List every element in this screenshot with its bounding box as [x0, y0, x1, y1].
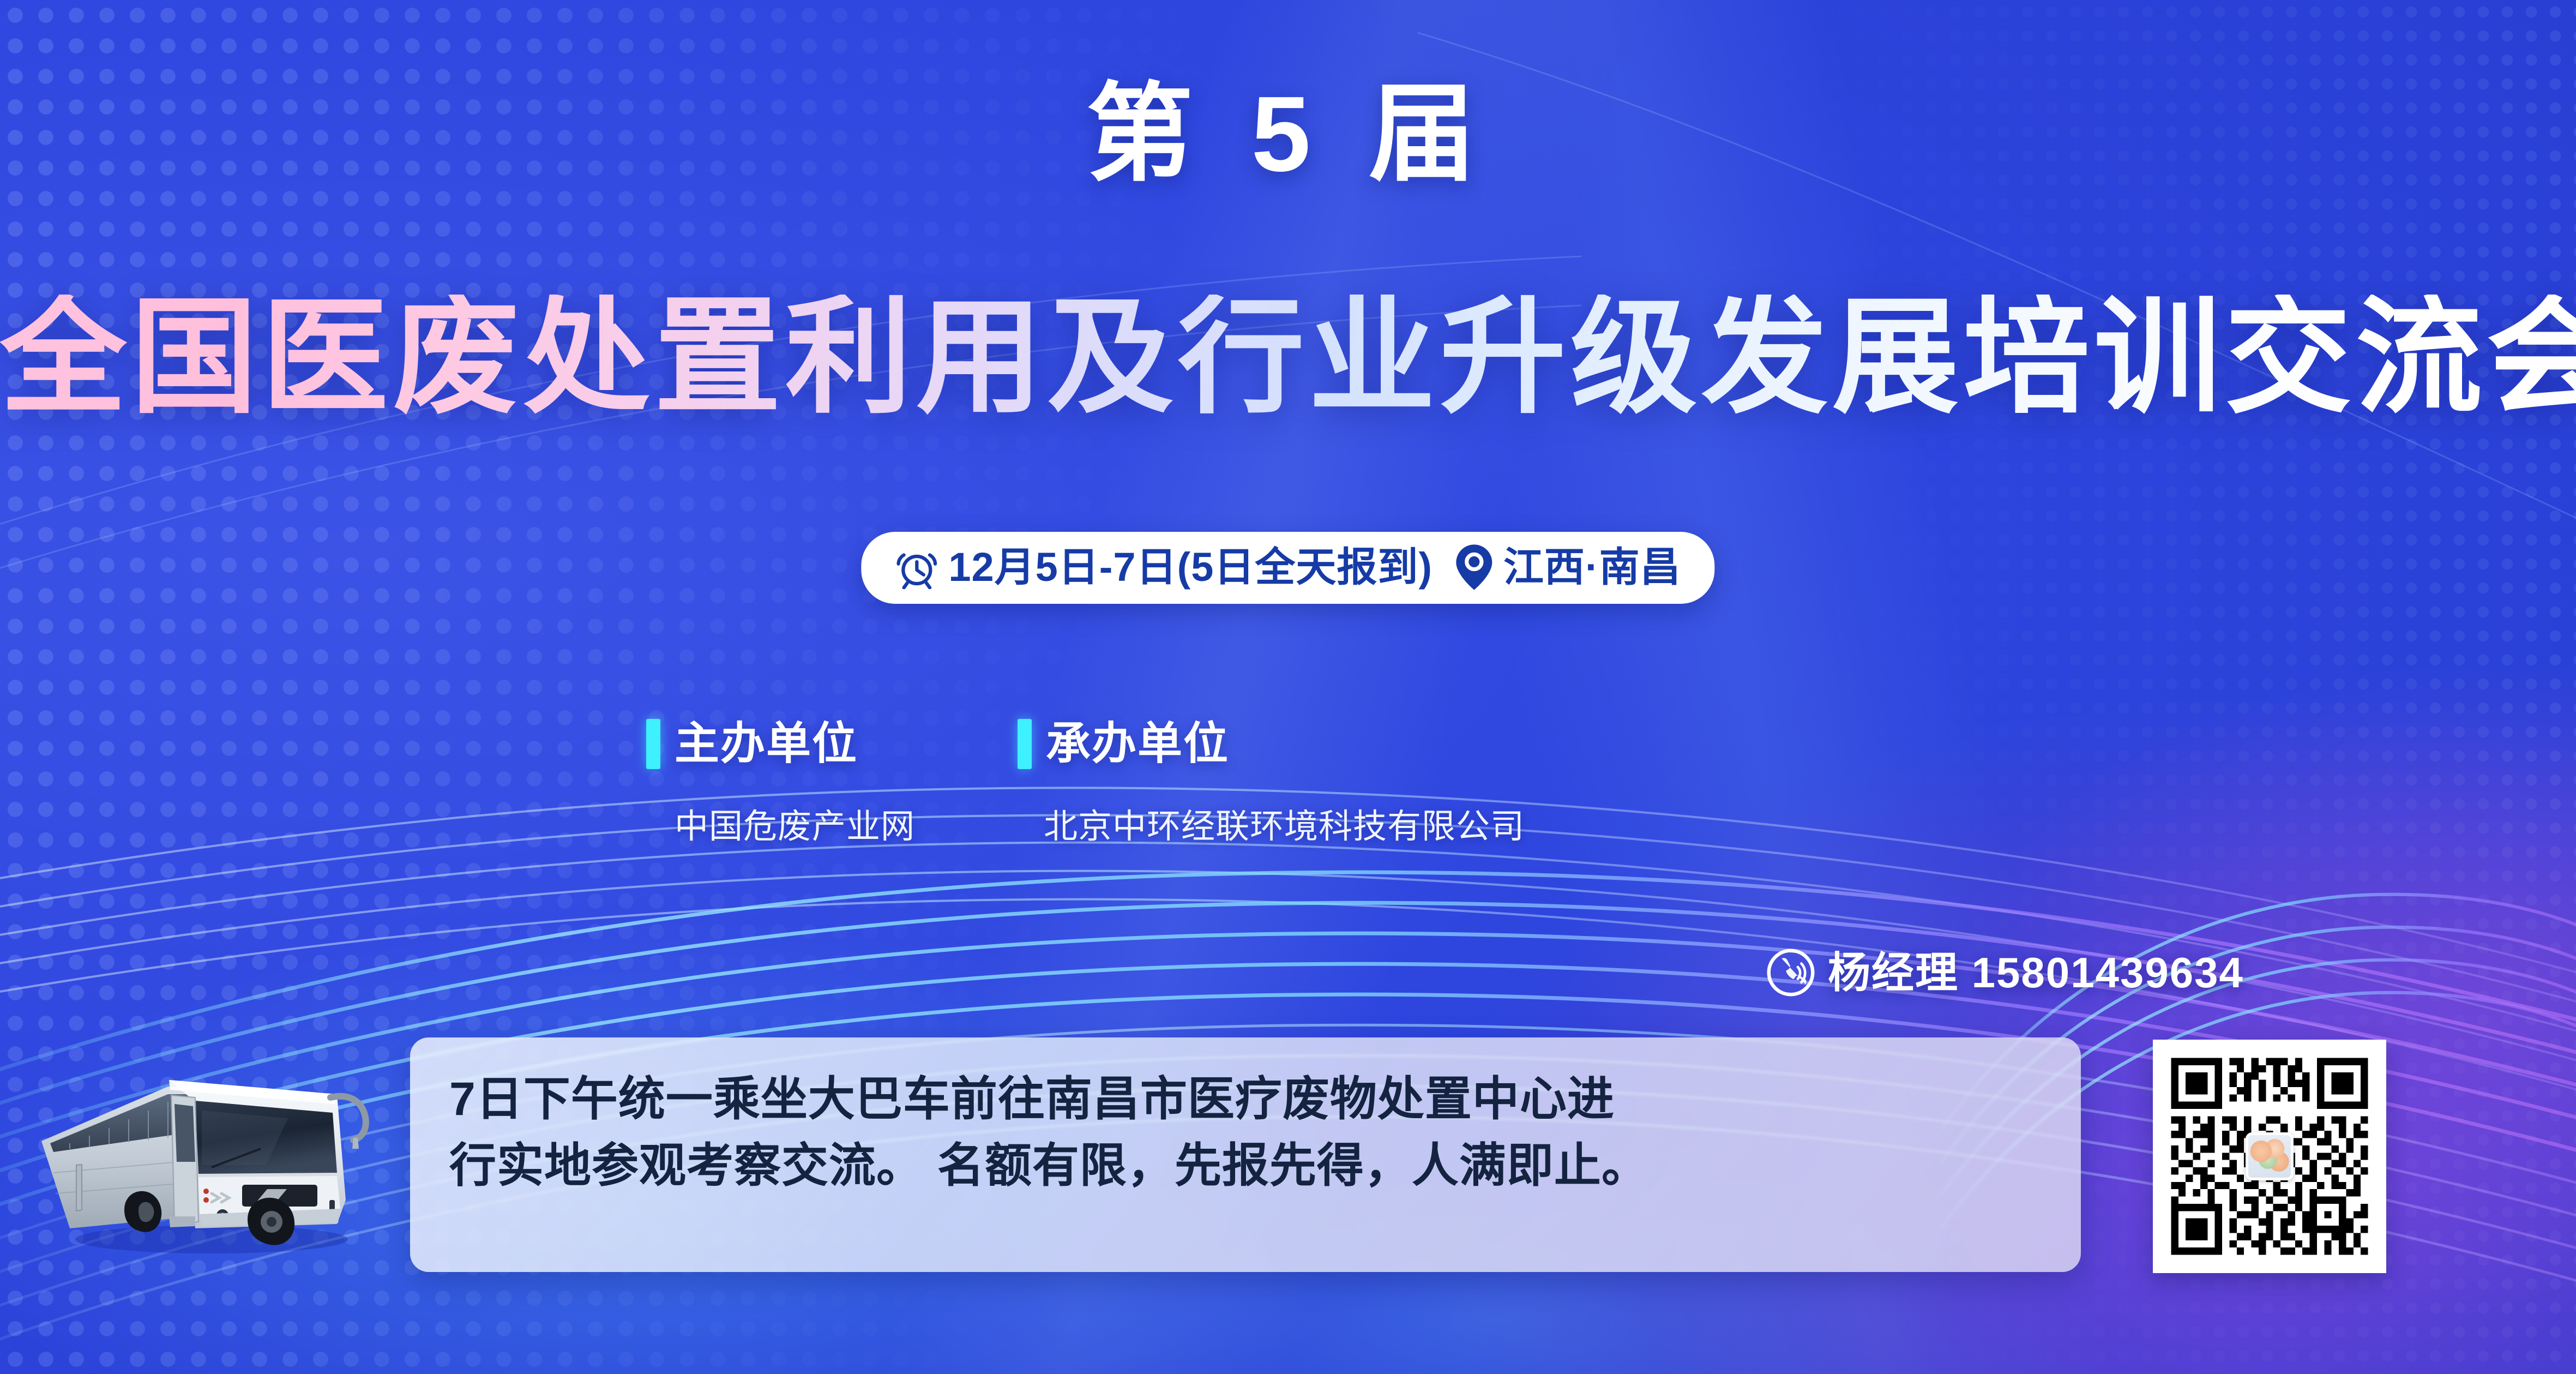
- date-group: 12月5日-7日(5日全天报到): [895, 545, 1433, 589]
- organizer-block-coorganizer: 承办单位 北京中环经联环境科技有限公司: [1018, 719, 1525, 848]
- contact-person-and-phone: 杨经理 15801439634: [1828, 951, 2244, 994]
- note-line-1: 7日下午统一乘坐大巴车前往南昌市医疗废物处置中心进: [449, 1066, 2042, 1132]
- alarm-clock-icon: [895, 545, 938, 589]
- organizer-coorganizer-name: 北京中环经联环境科技有限公司: [1044, 799, 1525, 848]
- conference-location-text: 江西·南昌: [1503, 547, 1681, 587]
- bus-graphic: [32, 1036, 392, 1265]
- flower-bouquet-avatar: [2246, 1132, 2294, 1180]
- organizer-host-name: 中国危废产业网: [675, 799, 915, 848]
- accent-bar-icon: [646, 719, 660, 769]
- page-title-headline: 全国医废处置利用及行业升级发展培训交流会: [0, 295, 2576, 421]
- wechat-qr-code[interactable]: [2153, 1040, 2386, 1273]
- location-group: 江西·南昌: [1454, 544, 1681, 591]
- organizer-host-heading: 主办单位: [646, 719, 915, 769]
- date-location-pill: 12月5日-7日(5日全天报到) 江西·南昌: [861, 532, 1714, 604]
- note-line-2: 行实地参观考察交流。 名额有限，先报先得，人满即止。: [449, 1132, 2042, 1199]
- coach-bus-illustration: [32, 1036, 392, 1265]
- organizer-coorganizer-heading: 承办单位: [1018, 719, 1525, 769]
- organizer-coorganizer-role-label: 承办单位: [1046, 722, 1229, 766]
- conference-banner: 第 5 届 全国医废处置利用及行业升级发展培训交流会 12月5日-7日(5日全天…: [0, 0, 2576, 1374]
- page-title-kicker: 第 5 届: [0, 81, 2576, 188]
- accent-bar-icon: [1018, 719, 1032, 769]
- telephone-icon: [1766, 947, 1816, 998]
- map-pin-icon: [1454, 544, 1494, 591]
- organizer-host-role-label: 主办单位: [675, 722, 858, 766]
- contact-line[interactable]: 杨经理 15801439634: [1766, 947, 2244, 998]
- info-note-box: 7日下午统一乘坐大巴车前往南昌市医疗废物处置中心进 行实地参观考察交流。 名额有…: [410, 1037, 2081, 1272]
- organizers-section: 主办单位 中国危废产业网 承办单位 北京中环经联环境科技有限公司: [646, 719, 1525, 848]
- organizer-block-host: 主办单位 中国危废产业网: [646, 719, 915, 848]
- conference-date-text: 12月5日-7日(5日全天报到): [948, 547, 1433, 587]
